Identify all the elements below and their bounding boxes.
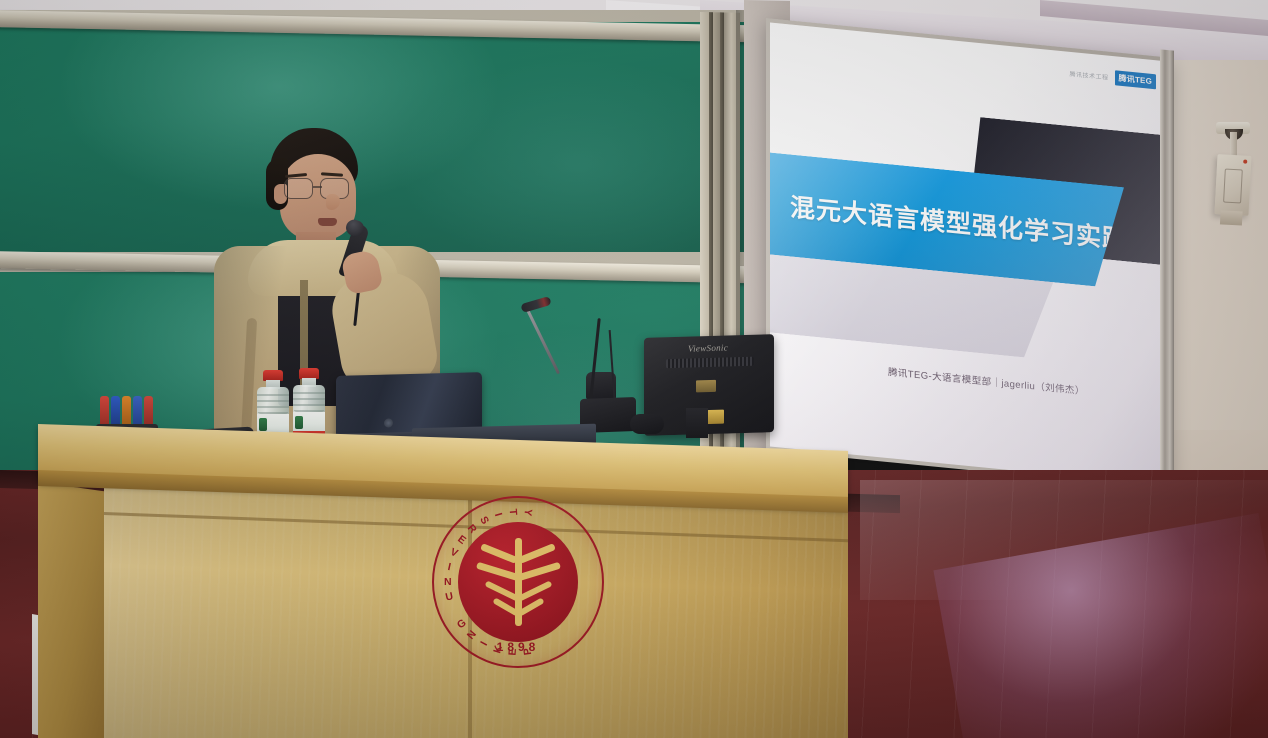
seal-ring-char: S (477, 514, 491, 526)
seal-ring-char: I (447, 561, 453, 573)
status-led-icon (1243, 160, 1247, 164)
seal-ring-char: I (492, 512, 504, 519)
lecture-hall-photo: 腾讯技术工程 腾讯TEG 混元大语言模型强化学习实践 腾讯TEG-大语言模型部｜… (0, 0, 1268, 738)
seal-ring-char: E (455, 533, 468, 547)
device-bracket (1220, 210, 1243, 225)
podium-side-panel (38, 482, 110, 738)
teg-badge: 腾讯TEG (1115, 70, 1156, 89)
screen-right-rail (1160, 49, 1174, 490)
mouth (318, 218, 337, 226)
bottle-ribs (293, 388, 325, 412)
microphone-arm (524, 305, 560, 375)
bottle-ribs (257, 390, 289, 414)
gooseneck-microphone-icon (524, 306, 586, 380)
seal-glyph (517, 562, 561, 582)
monitor-plate (696, 380, 716, 393)
seal-ring-char: V (448, 546, 460, 560)
seal-year: 1898 (434, 640, 602, 654)
seal-glyph (476, 562, 520, 582)
slide-surface: 腾讯技术工程 腾讯TEG 混元大语言模型强化学习实践 腾讯TEG-大语言模型部｜… (770, 22, 1168, 485)
seal-glyph (518, 580, 553, 601)
wall-mounted-device (1214, 154, 1251, 216)
peking-university-seal: PEKING UNIVERSITY 1898 (432, 496, 604, 668)
slide-title: 混元大语言模型强化学习实践 (790, 187, 1128, 256)
seal-emblem-icon (458, 522, 578, 642)
seal-glyph (480, 543, 518, 564)
seal-ring-char: N (444, 576, 452, 588)
seal-ring-char: R (465, 522, 479, 536)
projection-screen: 腾讯技术工程 腾讯TEG 混元大语言模型强化学习实践 腾讯TEG-大语言模型部｜… (766, 18, 1172, 490)
lens (284, 178, 313, 199)
device-slot (1223, 169, 1243, 204)
seal-glyph (518, 543, 556, 564)
eyeglasses-icon (282, 178, 356, 200)
seal-ring-char: T (507, 508, 519, 516)
monitor-vent (666, 357, 754, 368)
seal-ring-char: G (455, 616, 469, 631)
glasses-bridge (313, 186, 322, 188)
slide-subtitle: 腾讯TEG-大语言模型部｜jagerliu（刘伟杰） (888, 364, 1085, 397)
seal-ring-char: Y (521, 508, 534, 517)
slide-logo: 腾讯技术工程 腾讯TEG (1070, 66, 1156, 89)
slide-logo-caption: 腾讯技术工程 (1070, 69, 1109, 82)
seal-ring-char: U (444, 590, 454, 603)
monitor-brand-label: ViewSonic (688, 342, 728, 353)
